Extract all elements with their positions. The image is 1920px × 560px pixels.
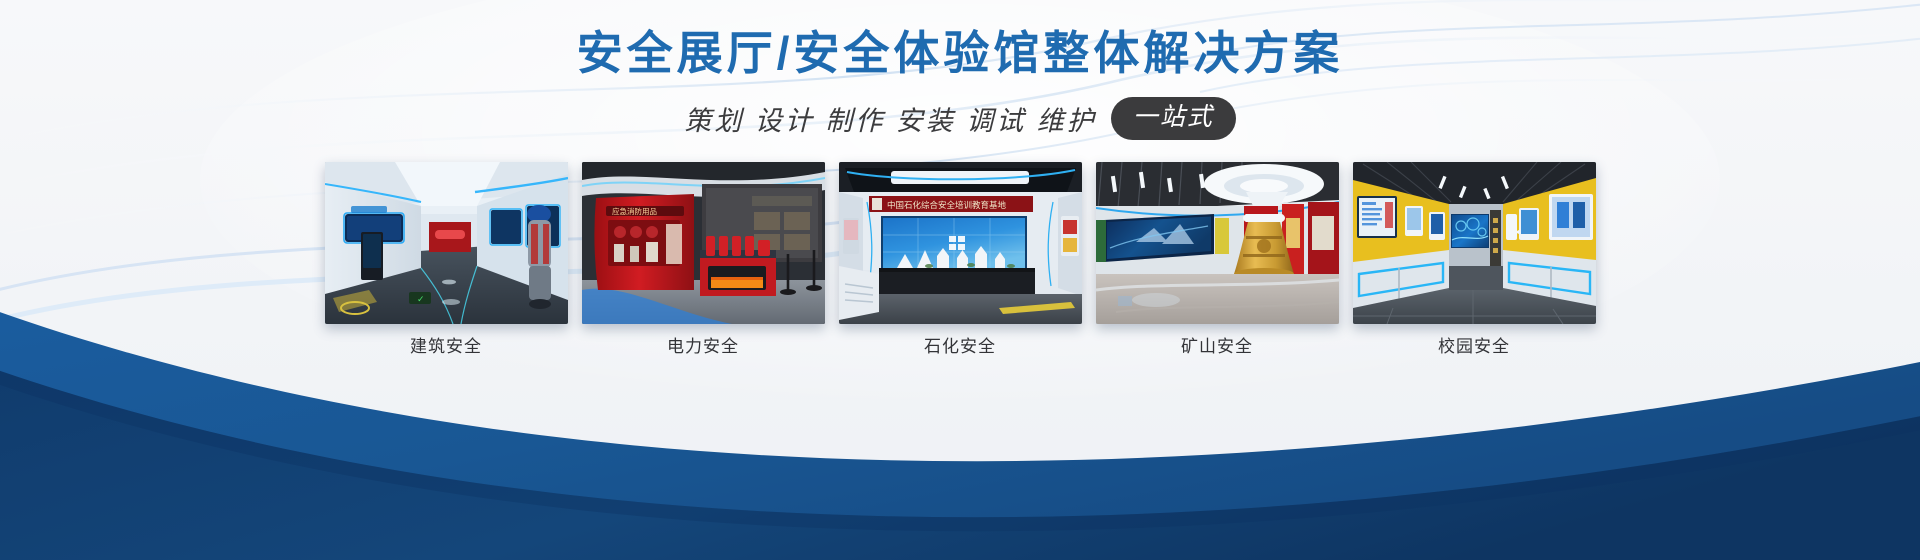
service-steps-text: 策划 设计 制作 安装 调试 维护 bbox=[684, 99, 1097, 138]
one-stop-badge: 一站式 bbox=[1111, 97, 1236, 140]
subtitle-row: 策划 设计 制作 安装 调试 维护 一站式 bbox=[684, 97, 1236, 140]
thumbnail-item[interactable]: ✓ 建筑安全 bbox=[324, 162, 569, 357]
banner-content: 安全展厅/安全体验馆整体解决方案 策划 设计 制作 安装 调试 维护 一站式 bbox=[0, 0, 1920, 560]
thumbnail-item[interactable]: 矿山安全 bbox=[1095, 162, 1340, 357]
thumbnail-item[interactable]: 校园安全 bbox=[1352, 162, 1597, 357]
thumbnail-caption: 石化安全 bbox=[924, 337, 996, 357]
construction-safety-image[interactable]: ✓ bbox=[325, 162, 568, 324]
petrochemical-safety-image[interactable]: 中国石化综合安全培训教育基地 bbox=[839, 162, 1082, 324]
page-title: 安全展厅/安全体验馆整体解决方案 bbox=[577, 26, 1344, 81]
thumbnail-caption: 电力安全 bbox=[667, 337, 739, 357]
svg-text:✓: ✓ bbox=[417, 294, 425, 304]
thumbnail-caption: 建筑安全 bbox=[410, 337, 482, 357]
thumbnail-caption: 矿山安全 bbox=[1181, 337, 1253, 357]
svg-text:应急消防用品: 应急消防用品 bbox=[612, 206, 657, 216]
thumbnail-caption: 校园安全 bbox=[1438, 337, 1510, 357]
campus-safety-image[interactable] bbox=[1353, 162, 1596, 324]
thumbnail-item[interactable]: 中国石化综合安全培训教育基地 bbox=[838, 162, 1083, 357]
thumbnail-item[interactable]: 应急消防用品 bbox=[581, 162, 826, 357]
safety-exhibition-banner: 安全展厅/安全体验馆整体解决方案 策划 设计 制作 安装 调试 维护 一站式 bbox=[0, 0, 1920, 560]
mine-safety-image[interactable] bbox=[1096, 162, 1339, 324]
svg-text:中国石化综合安全培训教育基地: 中国石化综合安全培训教育基地 bbox=[887, 200, 1007, 210]
thumbnail-gallery: ✓ 建筑安全 bbox=[324, 162, 1597, 357]
power-safety-image[interactable]: 应急消防用品 bbox=[582, 162, 825, 324]
